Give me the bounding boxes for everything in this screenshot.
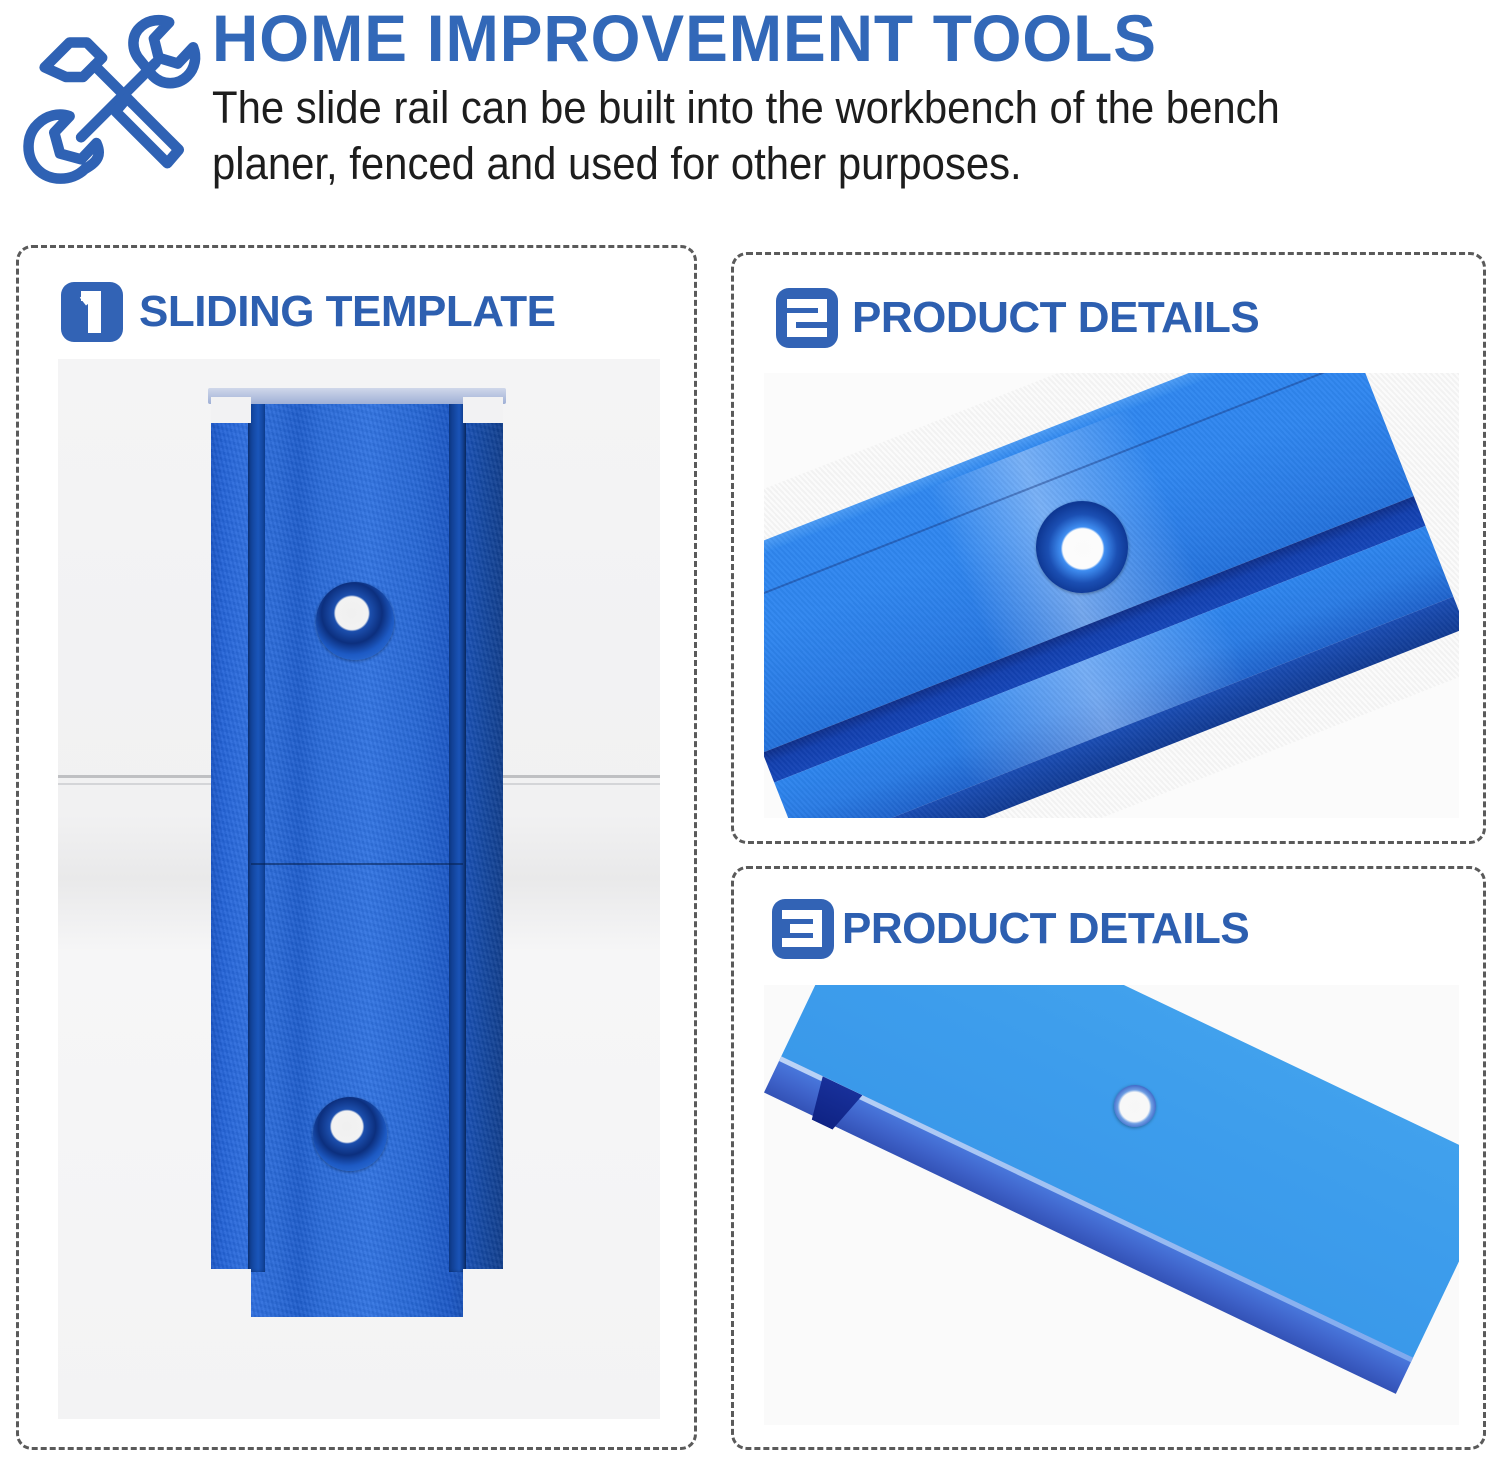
rail-seam-line xyxy=(251,863,463,865)
step-number-badge-3 xyxy=(772,899,834,959)
product-details-photo-flat-plate xyxy=(764,985,1459,1425)
panel-1-title: SLIDING TEMPLATE xyxy=(139,288,556,336)
panel-product-details-angled: PRODUCT DETAILS xyxy=(731,252,1486,844)
page-header: HOME IMPROVEMENT TOOLS The slide rail ca… xyxy=(0,0,1500,228)
page-title: HOME IMPROVEMENT TOOLS xyxy=(212,0,1461,74)
header-text-block: HOME IMPROVEMENT TOOLS The slide rail ca… xyxy=(212,0,1500,220)
panel-3-header: PRODUCT DETAILS xyxy=(772,899,1249,959)
sliding-template-photo xyxy=(58,359,660,1419)
photo-stage xyxy=(764,985,1459,1425)
panel-2-title: PRODUCT DETAILS xyxy=(852,294,1259,342)
digit-two-glyph xyxy=(776,288,838,348)
product-details-photo-angled-track xyxy=(764,373,1459,818)
countersunk-hole-lower xyxy=(313,1097,387,1171)
panel-1-header: SLIDING TEMPLATE xyxy=(61,282,556,342)
rail-groove-right xyxy=(449,397,466,1272)
panel-product-details-plate: PRODUCT DETAILS xyxy=(731,866,1486,1450)
digit-three-glyph xyxy=(772,899,834,959)
page-subtitle: The slide rail can be built into the wor… xyxy=(212,74,1407,192)
rail-notch-top-left xyxy=(211,397,251,423)
panel-sliding-template: SLIDING TEMPLATE xyxy=(16,245,697,1450)
panel-3-title: PRODUCT DETAILS xyxy=(842,905,1249,953)
rail-groove-left xyxy=(248,397,265,1272)
rail-top-lip xyxy=(208,388,506,404)
crossed-wrench-screwdriver-icon xyxy=(8,8,204,190)
flat-plate-body xyxy=(764,985,1459,1403)
rail-notch-bottom-left xyxy=(211,1269,251,1317)
t-track-rail-product xyxy=(211,397,503,1317)
digit-one-glyph xyxy=(61,282,123,342)
step-number-badge-2 xyxy=(776,288,838,348)
t-track-angled-body xyxy=(764,373,1459,818)
panel-2-header: PRODUCT DETAILS xyxy=(776,288,1259,348)
rail-notch-top-right xyxy=(463,397,503,423)
step-number-badge-1 xyxy=(61,282,123,342)
countersunk-hole-upper xyxy=(316,582,394,660)
rail-notch-bottom-right xyxy=(463,1269,503,1317)
plate-top-face xyxy=(781,985,1459,1358)
photo-stage xyxy=(764,373,1459,818)
